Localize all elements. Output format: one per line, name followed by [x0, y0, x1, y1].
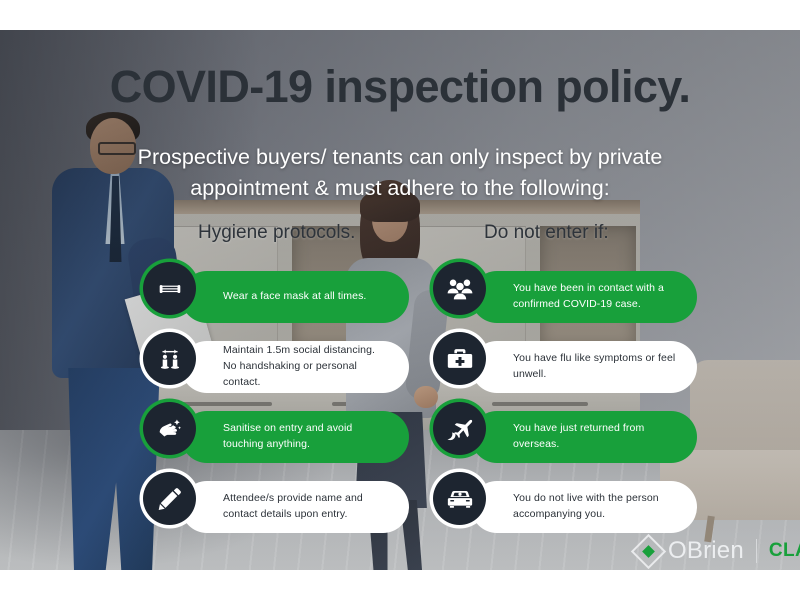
item-pill: Maintain 1.5m social distancing. No hand…	[181, 341, 409, 393]
logo-divider	[756, 539, 757, 563]
hand-sanitiser-icon	[143, 402, 196, 455]
item-text: You do not live with the person accompan…	[513, 491, 679, 523]
poster-canvas: COVID-19 inspection policy. Prospective …	[0, 0, 800, 600]
list-item: You have flu like symptoms or feel unwel…	[433, 332, 763, 402]
pencil-icon	[143, 472, 196, 525]
list-item: Wear a face mask at all times.	[143, 262, 473, 332]
brand-logo[interactable]: OBrien CLARK	[636, 537, 800, 565]
logo-name: OBrien	[668, 537, 744, 565]
item-pill: Attendee/s provide name and contact deta…	[181, 481, 409, 533]
group-of-people-icon	[433, 262, 486, 315]
item-pill: You have just returned from overseas.	[471, 411, 697, 463]
item-pill: You do not live with the person accompan…	[471, 481, 697, 533]
item-text: You have been in contact with a confirme…	[513, 281, 679, 313]
item-pill: Wear a face mask at all times.	[181, 271, 409, 323]
column-heading-do-not-enter: Do not enter if:	[484, 222, 609, 244]
item-text: You have flu like symptoms or feel unwel…	[513, 351, 679, 383]
page-subtitle: Prospective buyers/ tenants can only ins…	[100, 142, 700, 203]
list-item: You have been in contact with a confirme…	[433, 262, 763, 332]
list-item: Attendee/s provide name and contact deta…	[143, 472, 473, 542]
item-text: Sanitise on entry and avoid touching any…	[223, 421, 391, 453]
list-item: You do not live with the person accompan…	[433, 472, 763, 542]
list-item: Maintain 1.5m social distancing. No hand…	[143, 332, 473, 402]
list-item: You have just returned from overseas.	[433, 402, 763, 472]
medical-bag-icon	[433, 332, 486, 385]
item-pill: You have been in contact with a confirme…	[471, 271, 697, 323]
car-icon	[433, 472, 486, 525]
face-mask-icon	[143, 262, 196, 315]
item-text: Wear a face mask at all times.	[223, 289, 366, 305]
item-text: Maintain 1.5m social distancing. No hand…	[223, 343, 391, 390]
item-text: Attendee/s provide name and contact deta…	[223, 491, 391, 523]
logo-suffix: CLARK	[769, 540, 800, 562]
page-title: COVID-19 inspection policy.	[0, 64, 800, 109]
list-item: Sanitise on entry and avoid touching any…	[143, 402, 473, 472]
column-do-not-enter: You have been in contact with a confirme…	[433, 262, 763, 542]
item-pill: You have flu like symptoms or feel unwel…	[471, 341, 697, 393]
column-heading-hygiene: Hygiene protocols.	[198, 222, 355, 244]
social-distancing-icon	[143, 332, 196, 385]
airplane-icon	[433, 402, 486, 455]
column-hygiene-protocols: Wear a face mask at all times. Maintain …	[143, 262, 473, 542]
item-text: You have just returned from overseas.	[513, 421, 679, 453]
diamond-logo-icon	[631, 533, 666, 568]
item-pill: Sanitise on entry and avoid touching any…	[181, 411, 409, 463]
